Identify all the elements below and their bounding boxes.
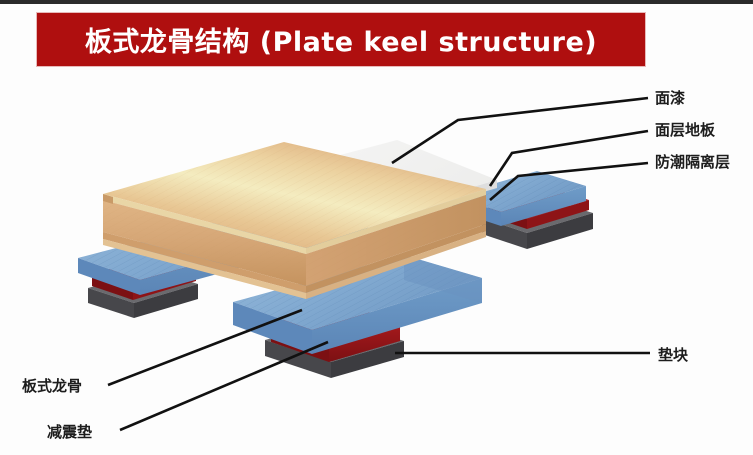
label-pad-block: 垫块 [658,344,688,365]
label-moisture-barrier: 防潮隔离层 [655,151,730,172]
label-shock-pad: 减震垫 [47,421,92,442]
label-plate-keel: 板式龙骨 [22,375,82,396]
leader-line-topcoat [392,98,648,163]
structure-diagram [0,0,753,455]
label-topcoat: 面漆 [655,87,685,108]
leader-line-shock-pad [120,342,328,430]
diagram-page: 板式龙骨结构 (Plate keel structure) [0,0,753,455]
leader-line-surface-floor [490,131,648,186]
label-surface-floor: 面层地板 [655,119,715,140]
